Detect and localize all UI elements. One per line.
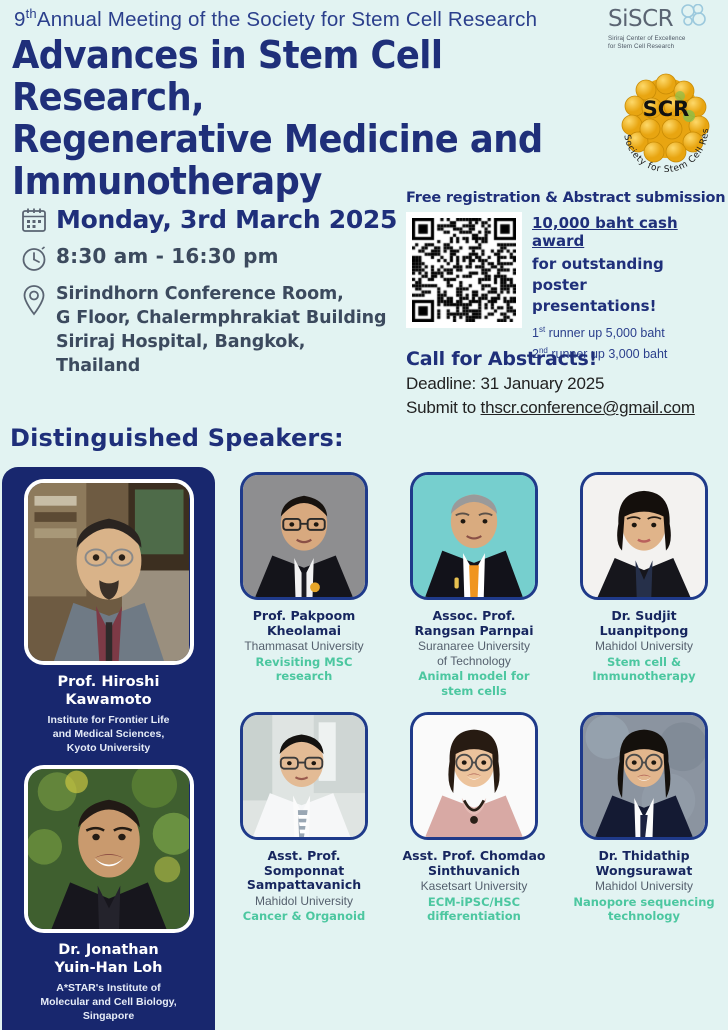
poster-kicker: 9thAnnual Meeting of the Society for Ste… (14, 6, 537, 32)
event-time: 8:30 am - 16:30 pm (56, 244, 279, 268)
speaker-affiliation-2: Suranaree University of Technology (392, 639, 556, 668)
kicker-text: Annual Meeting of the Society for Stem C… (37, 8, 537, 31)
speaker-card-1: Prof. Pakpoom Kheolamai Thammasat Univer… (222, 472, 386, 698)
siscr-subtitle: Siriraj Center of Excellence for Stem Ce… (608, 35, 720, 51)
photo-somponnat-sampattavanich (240, 712, 368, 840)
speaker-affiliation-5: Kasetsart University (392, 879, 556, 894)
conference-poster: 9thAnnual Meeting of the Society for Ste… (0, 0, 728, 1030)
kicker-ordinal-suffix: th (26, 6, 37, 21)
venue-line-2: G Floor, Chalermphrakiat Building (56, 306, 386, 330)
title-line-1: Advances in Stem Cell Research, (12, 34, 570, 118)
title-line-2: Regenerative Medicine and (12, 118, 570, 160)
event-venue: Sirindhorn Conference Room, G Floor, Cha… (56, 282, 386, 378)
venue-line-4: Thailand (56, 354, 386, 378)
speaker-affiliation-6: Mahidol University (562, 879, 726, 894)
poster-title: Advances in Stem Cell Research, Regenera… (12, 34, 570, 202)
cfa-submit: Submit to thscr.conference@gmail.com (406, 398, 726, 418)
page-title: Distinguished Speakers: (10, 424, 344, 452)
keynote-name-2: Dr. Jonathan Yuin-Han Loh (12, 941, 205, 977)
detail-row-venue: Sirindhorn Conference Room, G Floor, Cha… (12, 282, 402, 378)
keynote-card-2: Dr. Jonathan Yuin-Han Loh A*STAR's Insti… (12, 765, 205, 1023)
photo-thidathip-wongsurawat (580, 712, 708, 840)
award-headline: 10,000 baht cash award (532, 214, 720, 250)
keynote-affiliation-1: Institute for Frontier Life and Medical … (12, 713, 205, 755)
speaker-name-2: Assoc. Prof. Rangsan Parnpai (392, 609, 556, 638)
speaker-name-6: Dr. Thidathip Wongsurawat (562, 849, 726, 878)
speaker-affiliation-3: Mahidol University (562, 639, 726, 654)
speaker-topic-3: Stem cell & Immunotherapy (562, 655, 726, 684)
cfa-deadline: Deadline: 31 January 2025 (406, 374, 726, 394)
speaker-name-3: Dr. Sudjit Luanpitpong (562, 609, 726, 638)
scr-mark-text: SCR (643, 97, 690, 121)
speaker-affiliation-1: Thammasat University (222, 639, 386, 654)
photo-hiroshi-kawamoto (24, 479, 194, 665)
speaker-topic-6: Nanopore sequencing technology (562, 895, 726, 924)
qr-code-canvas[interactable] (412, 218, 516, 322)
calendar-icon (12, 205, 56, 233)
keynote-card-1: Prof. Hiroshi Kawamoto Institute for Fro… (12, 479, 205, 755)
photo-sudjit-luanpitpong (580, 472, 708, 600)
photo-chomdao-sinthuvanich (410, 712, 538, 840)
keynote-panel: Prof. Hiroshi Kawamoto Institute for Fro… (2, 467, 215, 1030)
photo-jonathan-yuin-han-loh (24, 765, 194, 933)
speaker-name-1: Prof. Pakpoom Kheolamai (222, 609, 386, 638)
award-line-3: presentations! (532, 296, 720, 317)
siscr-si: Si (608, 6, 628, 32)
venue-line-3: Siriraj Hospital, Bangkok, (56, 330, 386, 354)
cfa-title: Call for Abstracts! (406, 348, 726, 370)
cfa-submit-prefix: Submit to (406, 398, 481, 417)
registration-heading: Free registration & Abstract submission (406, 190, 720, 206)
registration-block: Free registration & Abstract submission … (406, 190, 720, 363)
speaker-card-2: Assoc. Prof. Rangsan Parnpai Suranaree U… (392, 472, 556, 698)
speaker-affiliation-4: Mahidol University (222, 894, 386, 909)
kicker-ordinal: 9 (14, 8, 26, 31)
siscr-subtitle-line-1: Siriraj Center of Excellence (608, 35, 720, 43)
keynote-affiliation-2: A*STAR's Institute of Molecular and Cell… (12, 981, 205, 1023)
event-details: Monday, 3rd March 2025 8:30 am - 16:30 p… (12, 205, 402, 388)
photo-rangsan-parnpai (410, 472, 538, 600)
clock-icon (12, 244, 56, 272)
speaker-name-5: Asst. Prof. Chomdao Sinthuvanich (392, 849, 556, 878)
speaker-card-6: Dr. Thidathip Wongsurawat Mahidol Univer… (562, 712, 726, 924)
award-text: 10,000 baht cash award for outstanding p… (532, 212, 720, 363)
photo-pakpoom-kheolamai (240, 472, 368, 600)
qr-code[interactable] (406, 212, 522, 328)
detail-row-date: Monday, 3rd March 2025 (12, 205, 402, 234)
blastocyst-icon: SCR Society for Stem Cell Research (614, 72, 718, 172)
speaker-topic-2: Animal model for stem cells (392, 669, 556, 698)
siscr-wordmark: SiSCR (608, 6, 673, 32)
event-date: Monday, 3rd March 2025 (56, 205, 397, 234)
siscr-scr: SCR (628, 6, 673, 32)
cfa-email-link[interactable]: thscr.conference@gmail.com (481, 398, 695, 417)
speaker-topic-1: Revisiting MSC research (222, 655, 386, 684)
award-line-2: for outstanding poster (532, 254, 720, 296)
siscr-logo: SiSCR Siriraj Center of Excellence for S… (608, 4, 720, 51)
speaker-name-4: Asst. Prof. Somponnat Sampattavanich (222, 849, 386, 893)
call-for-abstracts: Call for Abstracts! Deadline: 31 January… (406, 348, 726, 418)
map-pin-icon (12, 282, 56, 316)
cell-cluster-icon (680, 4, 706, 33)
speaker-topic-4: Cancer & Organoid (222, 909, 386, 924)
speaker-card-4: Asst. Prof. Somponnat Sampattavanich Mah… (222, 712, 386, 924)
speaker-card-3: Dr. Sudjit Luanpitpong Mahidol Universit… (562, 472, 726, 698)
runner-up-1: 1st runner up 5,000 baht (532, 321, 720, 342)
speaker-grid: Prof. Pakpoom Kheolamai Thammasat Univer… (222, 472, 726, 924)
keynote-name-1: Prof. Hiroshi Kawamoto (12, 673, 205, 709)
speaker-topic-5: ECM-iPSC/HSC differentiation (392, 895, 556, 924)
venue-line-1: Sirindhorn Conference Room, (56, 282, 386, 306)
detail-row-time: 8:30 am - 16:30 pm (12, 244, 402, 272)
speaker-card-5: Asst. Prof. Chomdao Sinthuvanich Kasetsa… (392, 712, 556, 924)
siscr-subtitle-line-2: for Stem Cell Research (608, 43, 720, 51)
scr-society-logo: SCR Society for Stem Cell Research (614, 72, 718, 168)
